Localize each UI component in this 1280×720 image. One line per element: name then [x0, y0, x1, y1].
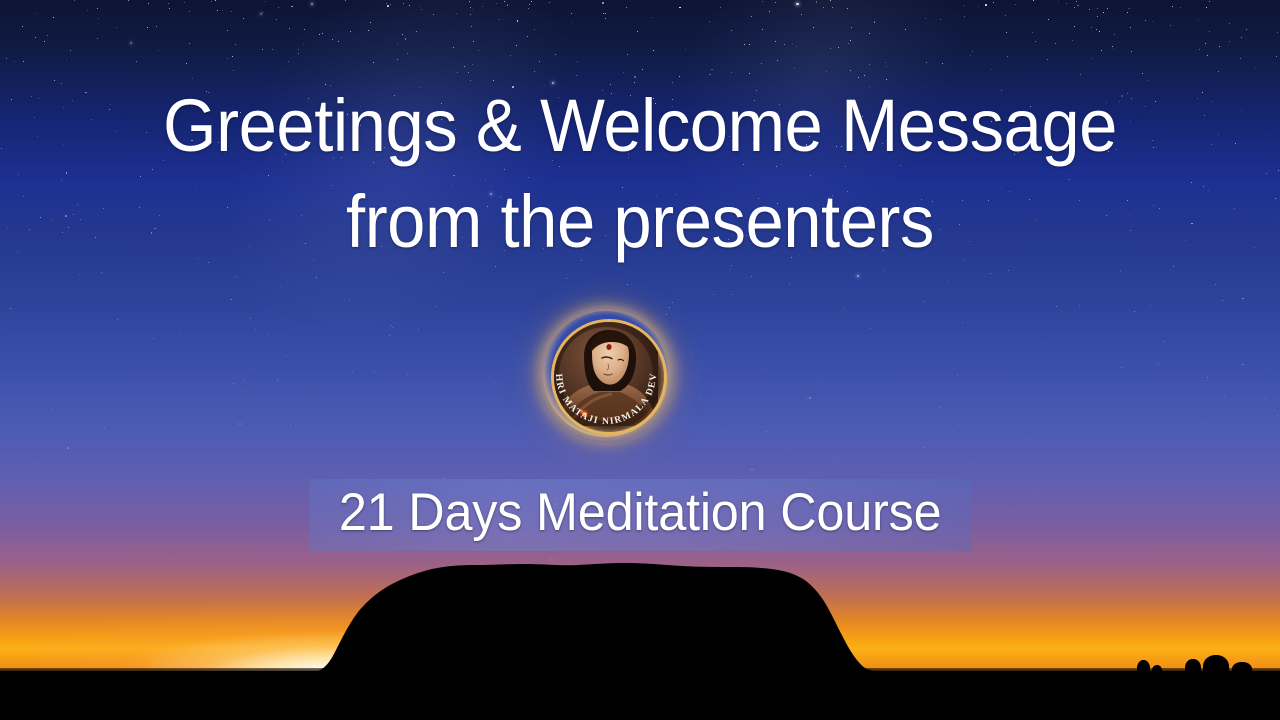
emblem-ring-text: • SHRI MATAJI NIRMALA DEVI •	[537, 305, 675, 443]
bush-silhouette	[1203, 655, 1229, 673]
bush-silhouette	[1232, 662, 1252, 673]
shri-mataji-emblem: • SHRI MATAJI NIRMALA DEVI •	[537, 305, 675, 443]
foreground-ground	[0, 671, 1280, 720]
svg-text:• SHRI MATAJI NIRMALA DEVI •: • SHRI MATAJI NIRMALA DEVI •	[534, 297, 659, 427]
presentation-slide: Greetings & Welcome Message from the pre…	[0, 0, 1280, 720]
bush-silhouette	[1185, 659, 1201, 673]
subtitle-highlight-band: 21 Days Meditation Course	[309, 479, 971, 551]
slide-subtitle: 21 Days Meditation Course	[0, 479, 1280, 551]
bush-silhouette	[1137, 660, 1150, 673]
bush-silhouette	[1152, 665, 1162, 673]
subtitle-text: 21 Days Meditation Course	[339, 485, 942, 541]
emblem-ring-text-path: • SHRI MATAJI NIRMALA DEVI •	[534, 297, 659, 427]
